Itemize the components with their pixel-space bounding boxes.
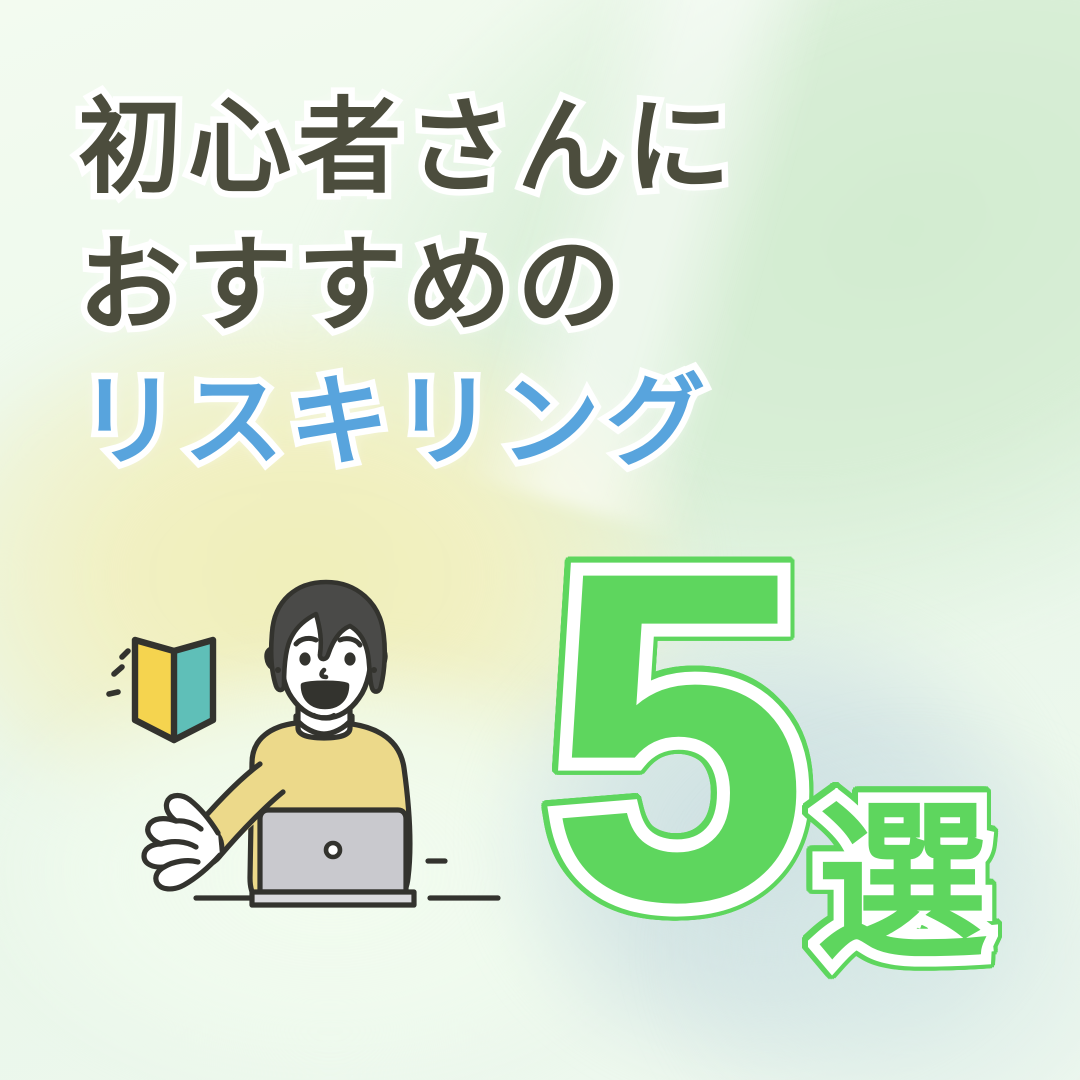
badge-number: 5 — [548, 530, 809, 944]
eye-right — [344, 652, 355, 665]
sparkle-marks — [109, 651, 128, 694]
headline-line-1: 初心者さんに — [78, 96, 938, 200]
illustration-woman-with-laptop — [100, 578, 520, 968]
chin-crease — [314, 715, 334, 717]
badge-suffix: 選 — [816, 798, 988, 970]
laptop-base — [252, 892, 414, 905]
mouth — [303, 683, 347, 707]
headline-line-2: おすすめの — [78, 234, 938, 338]
headline-block: 初心者さんに おすすめの リスキリング — [78, 96, 938, 472]
poster-canvas: 初心者さんに おすすめの リスキリング 5 選 — [0, 0, 1080, 1080]
laptop-logo — [326, 843, 340, 857]
headline-line-3: リスキリング — [78, 372, 938, 472]
earring-left — [275, 667, 281, 673]
eye-left — [299, 652, 310, 665]
illustration-svg — [100, 578, 520, 968]
count-badge: 5 選 — [548, 530, 1018, 990]
earring-right — [371, 667, 377, 673]
